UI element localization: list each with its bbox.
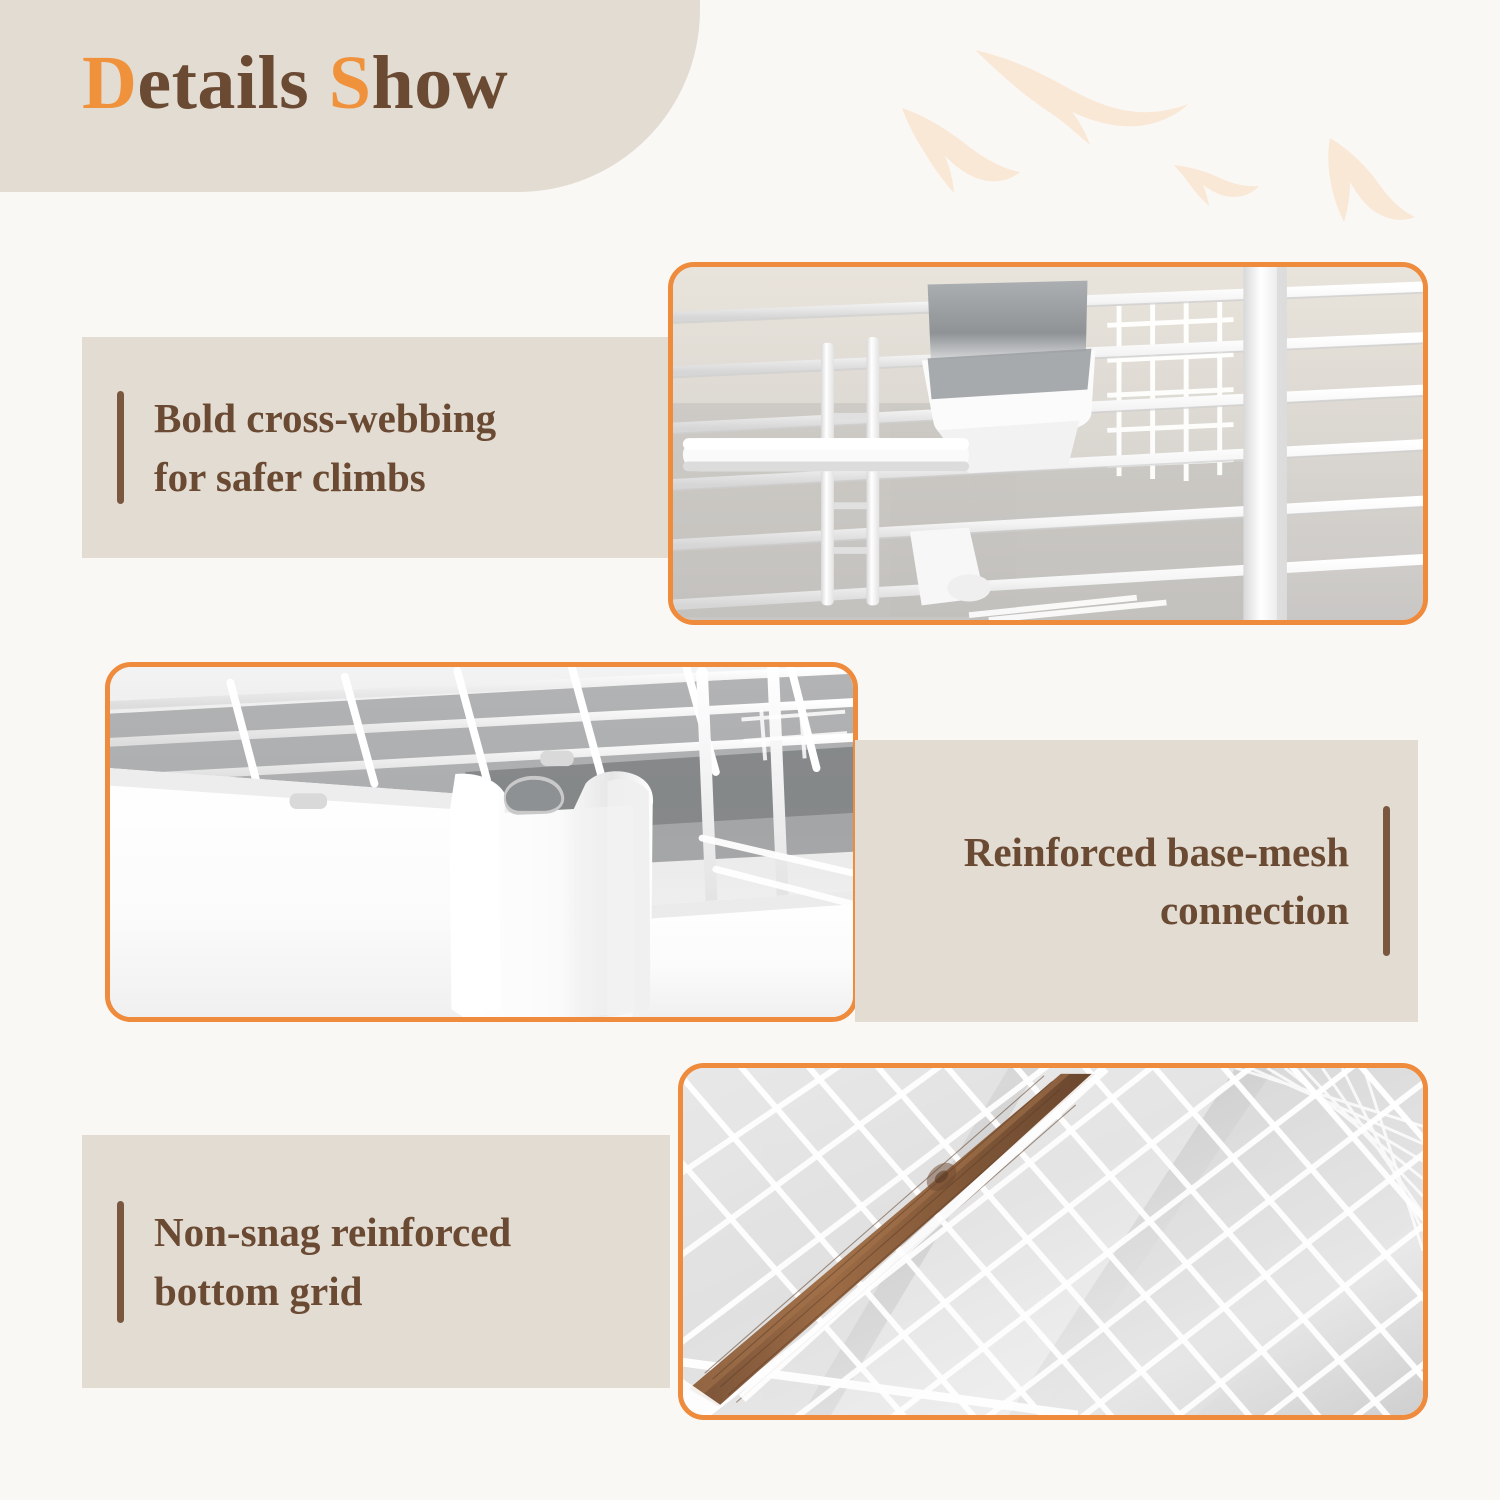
base-mesh-latch-photo bbox=[110, 667, 853, 1017]
page-title-space bbox=[309, 41, 329, 125]
caption-line-1: Bold cross-webbing bbox=[154, 389, 496, 447]
caption-line-2: connection bbox=[964, 881, 1349, 939]
page-title-rest-details: etails bbox=[137, 41, 309, 125]
caption-line-2: for safer climbs bbox=[154, 448, 496, 506]
accent-bar bbox=[117, 1201, 124, 1323]
accent-bar bbox=[117, 391, 124, 504]
caption-line-2: bottom grid bbox=[154, 1262, 511, 1320]
caption-text: Reinforced base-mesh connection bbox=[964, 823, 1349, 939]
caption-line-1: Non-snag reinforced bbox=[154, 1203, 511, 1261]
page-title: Details Show bbox=[82, 42, 508, 126]
bottom-grid-photo bbox=[683, 1068, 1423, 1415]
caption-text: Bold cross-webbing for safer climbs bbox=[154, 389, 496, 505]
feature-caption-base-mesh: Reinforced base-mesh connection bbox=[855, 740, 1418, 1022]
page-title-initial-d: D bbox=[82, 41, 137, 125]
feature-photo-cross-webbing bbox=[668, 262, 1428, 625]
page-title-rest-show: how bbox=[372, 41, 509, 125]
page-title-initial-s: S bbox=[329, 41, 372, 125]
details-show-page: Details Show Bold cross-webbing for safe… bbox=[0, 0, 1500, 1500]
feature-photo-bottom-grid bbox=[678, 1063, 1428, 1420]
caption-text: Non-snag reinforced bottom grid bbox=[154, 1203, 511, 1319]
feature-caption-cross-webbing: Bold cross-webbing for safer climbs bbox=[82, 337, 670, 558]
cage-cross-webbing-photo bbox=[673, 267, 1423, 620]
feature-caption-bottom-grid: Non-snag reinforced bottom grid bbox=[82, 1135, 670, 1388]
feature-photo-base-mesh bbox=[105, 662, 858, 1022]
caption-line-1: Reinforced base-mesh bbox=[964, 823, 1349, 881]
accent-bar bbox=[1383, 806, 1390, 956]
